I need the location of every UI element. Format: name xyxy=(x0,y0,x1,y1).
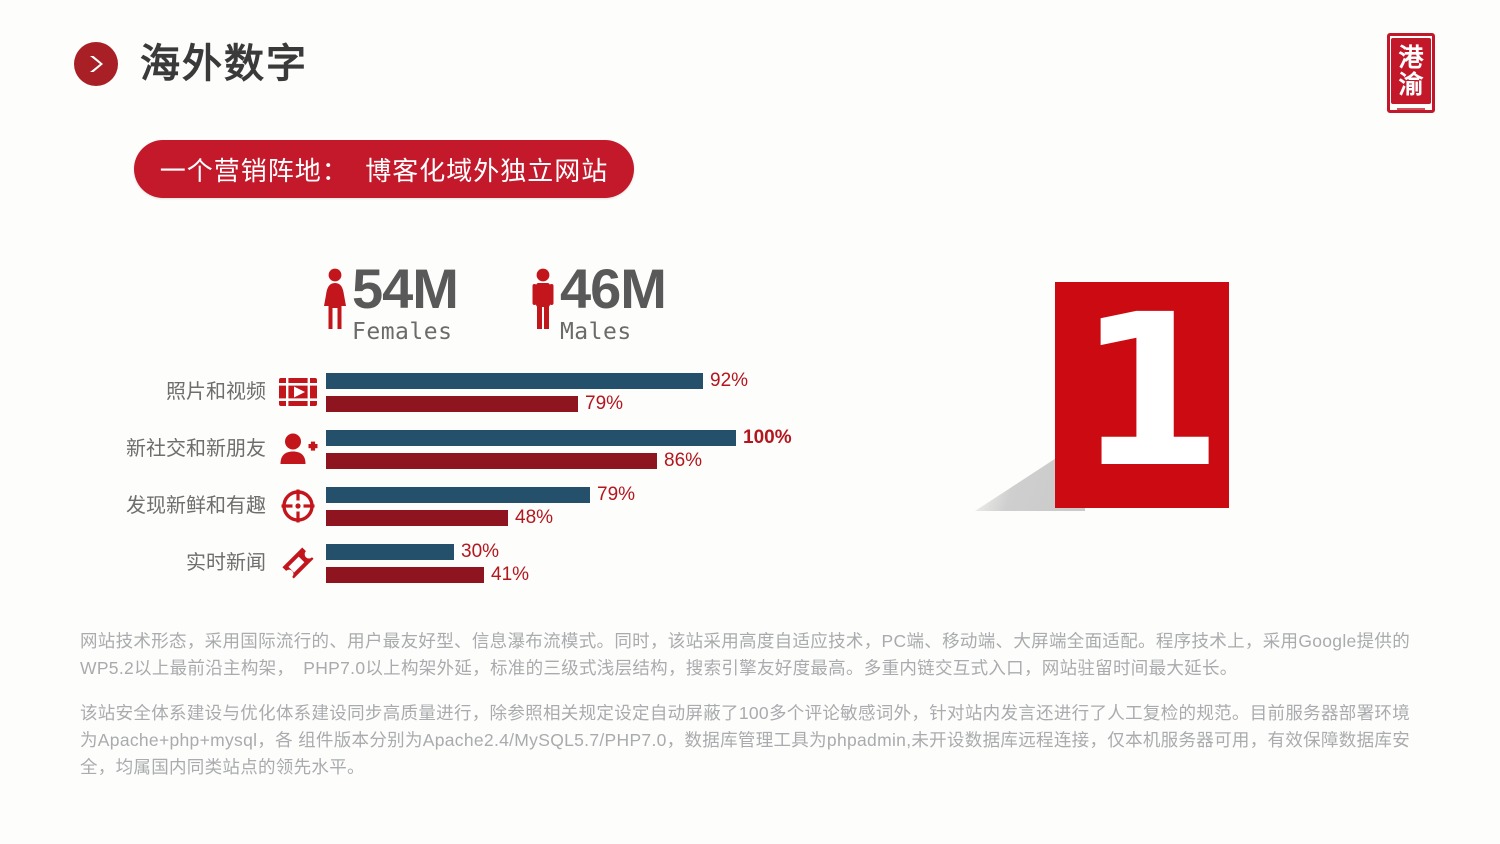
chart-bar-value-blue: 100% xyxy=(743,428,792,447)
chart-row-bars: 92% 79% xyxy=(320,372,818,412)
stamp-foot xyxy=(1397,108,1425,111)
chart-row: 照片和视频 92% 79% xyxy=(118,368,818,416)
chart-bar-line-blue: 100% xyxy=(326,429,818,446)
chart-bar-red xyxy=(326,567,484,583)
usage-bar-chart: 照片和视频 92% 79% xyxy=(118,368,818,596)
gender-label-males: Males xyxy=(560,319,666,345)
banner-label: 一个营销阵地： 博客化域外独立网站 xyxy=(160,151,608,188)
chart-row-label: 实时新闻 xyxy=(118,553,276,573)
chart-bar-value-red: 48% xyxy=(515,508,553,527)
video-film-icon xyxy=(276,376,320,408)
chart-bar-red xyxy=(326,453,657,469)
chart-bar-blue xyxy=(326,544,454,560)
chart-bar-line-blue: 30% xyxy=(326,543,818,560)
chart-row: 实时新闻 30% 41% xyxy=(118,539,818,587)
chart-bar-value-blue: 92% xyxy=(710,371,748,390)
gender-text-group-females: 54M Females xyxy=(352,262,458,345)
footer-paragraph-2: 该站安全体系建设与优化体系建设同步高质量进行，除参照相关规定设定自动屏蔽了100… xyxy=(80,700,1410,781)
stamp-char-bottom: 渝 xyxy=(1398,72,1423,98)
chart-row-bars: 30% 41% xyxy=(320,543,818,583)
chart-bar-line-blue: 92% xyxy=(326,372,818,389)
chart-row: 发现新鲜和有趣 79% 48% xyxy=(118,482,818,530)
chart-bar-red xyxy=(326,510,508,526)
stamp-body: 港 渝 xyxy=(1391,38,1431,104)
gender-stat-females: 54M Females xyxy=(322,262,458,345)
chart-bar-value-red: 41% xyxy=(491,565,529,584)
crosshair-target-icon xyxy=(276,488,320,524)
chart-row-bars: 79% 48% xyxy=(320,486,818,526)
chart-bar-value-blue: 79% xyxy=(597,485,635,504)
brand-seal-stamp: 港 渝 xyxy=(1387,33,1435,113)
chart-bar-value-red: 79% xyxy=(585,394,623,413)
gender-text-group-males: 46M Males xyxy=(560,262,666,345)
footer-text: 网站技术形态，采用国际流行的、用户最友好型、信息瀑布流模式。同时，该站采用高度自… xyxy=(80,628,1410,799)
stamp-char-top: 港 xyxy=(1398,45,1423,71)
gender-stats: 54M Females 46M Males xyxy=(322,262,666,345)
chart-row-label: 照片和视频 xyxy=(118,382,276,402)
chart-row-label: 发现新鲜和有趣 xyxy=(118,496,276,516)
chart-bar-line-red: 79% xyxy=(326,395,818,412)
chart-bar-line-red: 41% xyxy=(326,566,818,583)
add-friend-icon xyxy=(276,432,320,466)
chart-bar-red xyxy=(326,396,578,412)
chart-bar-blue xyxy=(326,430,736,446)
footer-paragraph-1: 网站技术形态，采用国际流行的、用户最友好型、信息瀑布流模式。同时，该站采用高度自… xyxy=(80,628,1410,682)
chart-bar-line-blue: 79% xyxy=(326,486,818,503)
slide-header: 海外数字 xyxy=(74,42,308,86)
chart-row: 新社交和新朋友 100% 86% xyxy=(118,425,818,473)
gender-label-females: Females xyxy=(352,319,458,345)
chart-bar-line-red: 86% xyxy=(326,452,818,469)
gender-value-males: 46M xyxy=(560,262,666,317)
chevron-right-icon xyxy=(74,42,118,86)
chart-bar-blue xyxy=(326,373,703,389)
chart-row-bars: 100% 86% xyxy=(320,429,818,469)
ticket-icon xyxy=(276,544,320,582)
chart-bar-blue xyxy=(326,487,590,503)
female-figure-icon xyxy=(322,268,348,330)
chart-row-label: 新社交和新朋友 xyxy=(118,439,276,459)
page-title: 海外数字 xyxy=(140,44,308,84)
chart-bar-value-red: 86% xyxy=(664,451,702,470)
section-banner: 一个营销阵地： 博客化域外独立网站 xyxy=(134,140,634,198)
chart-bar-value-blue: 30% xyxy=(461,542,499,561)
male-figure-icon xyxy=(530,268,556,330)
gender-value-females: 54M xyxy=(352,262,458,317)
chart-bar-line-red: 48% xyxy=(326,509,818,526)
highlight-number-block: 1 xyxy=(1055,282,1229,508)
slide-canvas: 海外数字 港 渝 一个营销阵地： 博客化域外独立网站 54M Females xyxy=(0,0,1500,844)
highlight-number-value: 1 xyxy=(1077,287,1223,497)
gender-stat-males: 46M Males xyxy=(530,262,666,345)
